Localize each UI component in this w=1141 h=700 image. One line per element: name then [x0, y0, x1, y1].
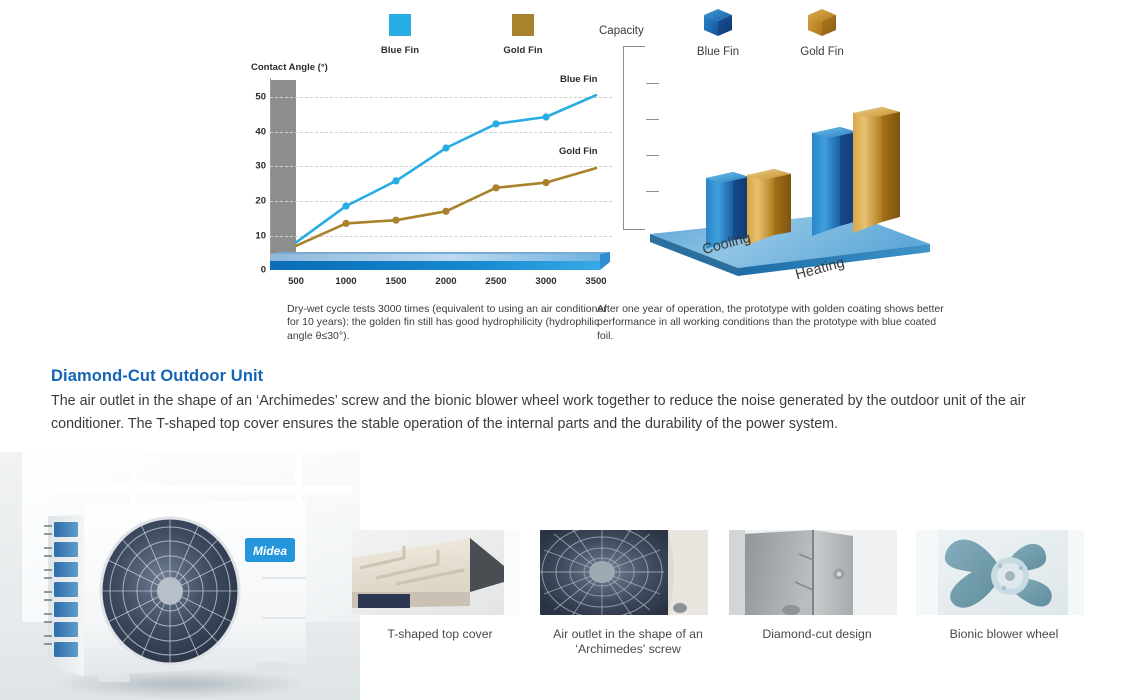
- gold-square-swatch: [512, 14, 534, 36]
- legend-label-blue-fin: Blue Fin: [381, 45, 419, 56]
- x-tick-500: 500: [288, 276, 304, 287]
- legend-label-gold-fin: Gold Fin: [503, 45, 542, 56]
- x-tick-2000: 2000: [435, 276, 456, 287]
- line-chart-series-svg: [270, 80, 610, 270]
- bionic-blower-wheel-photo: [916, 530, 1084, 615]
- charts-row: Blue Fin Gold Fin Contact Angle (°) 50 4: [0, 0, 1141, 350]
- x-tick-1500: 1500: [385, 276, 406, 287]
- thumbnail-caption-4: Bionic blower wheel: [916, 627, 1092, 642]
- contact-angle-line-chart: Blue Fin Gold Fin Contact Angle (°) 50 4: [120, 0, 520, 350]
- y-tick-40: 40: [255, 126, 266, 137]
- brochure-page: Blue Fin Gold Fin Contact Angle (°) 50 4: [0, 0, 1141, 700]
- unit-foot-right: [256, 662, 288, 670]
- series-line-blue: [296, 95, 596, 242]
- y-tick-20: 20: [255, 195, 266, 206]
- blue-square-swatch: [389, 14, 411, 36]
- thumbnail-caption-3: Diamond-cut design: [729, 627, 905, 642]
- legend-item-blue-fin: Blue Fin: [355, 14, 445, 58]
- thumbnail-air-outlet: Air outlet in the shape of an ‘Archimede…: [540, 530, 716, 657]
- y-tick-0: 0: [261, 265, 266, 276]
- y-tick-50: 50: [255, 92, 266, 103]
- y-tick-10: 10: [255, 230, 266, 241]
- fan-grille: [101, 518, 239, 664]
- bar-chart-caption: After one year of operation, the prototy…: [597, 303, 952, 343]
- outdoor-unit-hero-photo: Midea: [0, 452, 360, 700]
- outdoor-unit-illustration: Midea: [0, 452, 360, 700]
- y-tick-30: 30: [255, 161, 266, 172]
- thumbnail-diamond-cut-design: Diamond-cut design: [729, 530, 905, 642]
- line-chart-y-axis-title: Contact Angle (°): [251, 62, 328, 73]
- series-line-gold: [296, 168, 596, 246]
- line-chart-caption: Dry-wet cycle tests 3000 times (equivale…: [287, 303, 617, 343]
- bar-heating-gold: [853, 107, 900, 233]
- section-heading: Diamond-Cut Outdoor Unit: [51, 367, 263, 386]
- x-tick-2500: 2500: [485, 276, 506, 287]
- line-chart-base-slab: [270, 252, 610, 272]
- svg-text:Midea: Midea: [253, 544, 287, 558]
- unit-foot-left: [98, 674, 130, 682]
- line-chart-plot-area: 50 40 30 20 10 0: [270, 80, 610, 270]
- brand-badge: Midea: [245, 538, 295, 562]
- x-tick-1000: 1000: [335, 276, 356, 287]
- series-markers-blue: [342, 113, 549, 209]
- capacity-bar-chart: Capacity: [590, 0, 1010, 350]
- x-tick-3000: 3000: [535, 276, 556, 287]
- thumbnail-caption-2: Air outlet in the shape of an ‘Archimede…: [540, 627, 716, 657]
- thumbnail-bionic-blower-wheel: Bionic blower wheel: [916, 530, 1092, 642]
- air-outlet-fan-grille-photo: [540, 530, 708, 615]
- line-chart-legend: Blue Fin Gold Fin: [250, 14, 550, 60]
- legend-item-gold-fin: Gold Fin: [478, 14, 568, 58]
- bar-chart-3d-svg: [590, 0, 1010, 300]
- thumbnail-caption-1: T-shaped top cover: [352, 627, 528, 642]
- feature-thumbnail-strip: T-shaped top cover: [352, 530, 1141, 700]
- fan-hub: [157, 577, 183, 605]
- condenser-fins: [54, 522, 78, 657]
- thumbnail-t-shaped-top-cover: T-shaped top cover: [352, 530, 528, 642]
- section-body-text: The air outlet in the shape of an ‘Archi…: [51, 390, 1088, 435]
- t-shaped-top-cover-photo: [352, 530, 520, 615]
- bar-heating-blue: [812, 127, 857, 236]
- diamond-cut-side-panel-photo: [729, 530, 897, 615]
